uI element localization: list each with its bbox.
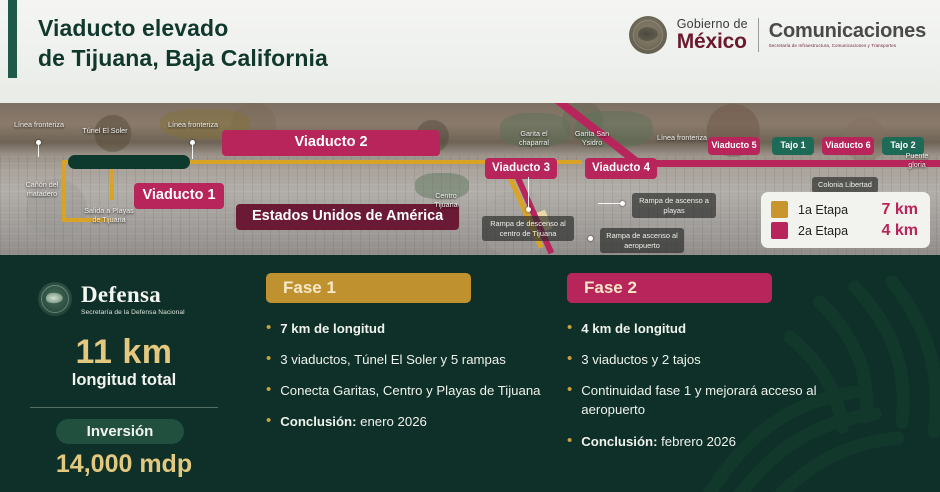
footer: Defensa Secretaría de la Defensa Naciona… bbox=[0, 255, 940, 492]
list-item: • 4 km de longitud bbox=[567, 319, 867, 338]
satellite-map: Estados Unidos de América México Viaduct… bbox=[0, 103, 940, 255]
label-centro-tijuana: Centro Tijuana bbox=[424, 191, 468, 209]
route-tunnel-el-soler bbox=[68, 155, 190, 169]
list-item: • Conclusión: enero 2026 bbox=[266, 412, 556, 431]
leader-line bbox=[38, 143, 39, 157]
label-canon-del-matadero: Cañón del matadero bbox=[14, 180, 70, 198]
legend-row: 1a Etapa 7 km bbox=[771, 199, 918, 220]
header-accent-bar bbox=[8, 0, 17, 78]
chip-viaducto-2: Viaducto 2 bbox=[222, 130, 440, 156]
bullet-icon: • bbox=[266, 381, 271, 400]
label-linea-fronteriza-left: Línea fronteriza bbox=[12, 120, 66, 129]
bullet-text: 7 km de longitud bbox=[280, 319, 556, 338]
bullet-icon: • bbox=[266, 350, 271, 369]
defensa-divider bbox=[30, 407, 218, 408]
leader-line bbox=[598, 203, 622, 204]
legend-label-etapa2: 2a Etapa bbox=[798, 224, 860, 238]
investment-value: 14,000 mdp bbox=[0, 450, 248, 479]
phase-1-bullets: • 7 km de longitud • 3 viaductos, Túnel … bbox=[266, 319, 556, 432]
bullet-text: Conclusión: febrero 2026 bbox=[581, 432, 867, 451]
bullet-icon: • bbox=[266, 412, 271, 431]
leader-line bbox=[192, 143, 193, 159]
bullet-text: Conclusión: enero 2026 bbox=[280, 412, 556, 431]
chip-viaducto-5: Viaducto 5 bbox=[708, 137, 760, 155]
bullet-icon: • bbox=[266, 319, 271, 338]
gobierno-wordmark: Gobierno de México bbox=[677, 18, 748, 53]
leader-line bbox=[528, 177, 529, 207]
route-crimson-main bbox=[640, 160, 940, 167]
infographic-page: Viaducto elevado de Tijuana, Baja Califo… bbox=[0, 0, 940, 492]
bullet-text: 3 viaductos, Túnel El Soler y 5 rampas bbox=[280, 350, 556, 369]
header: Viaducto elevado de Tijuana, Baja Califo… bbox=[0, 0, 940, 103]
list-item: • 3 viaductos y 2 tajos bbox=[567, 350, 867, 369]
label-garita-san-ysidro: Garita San Ysidro bbox=[566, 129, 618, 147]
department-label: Comunicaciones bbox=[769, 21, 926, 41]
legend-swatch-etapa2 bbox=[771, 222, 788, 239]
defensa-name: Defensa bbox=[81, 283, 185, 306]
bullet-text: 4 km de longitud bbox=[581, 319, 867, 338]
phase-1-column: Fase 1 • 7 km de longitud • 3 viaductos,… bbox=[266, 273, 556, 444]
label-tunel-el-soler: Túnel El Soler bbox=[80, 126, 130, 135]
label-linea-fronteriza-mid: Línea fronteriza bbox=[166, 120, 220, 129]
legend-value-etapa2: 4 km bbox=[870, 222, 918, 240]
national-seal-icon bbox=[629, 16, 667, 54]
investment-badge: Inversión bbox=[56, 419, 184, 444]
page-title-line2: de Tijuana, Baja California bbox=[38, 44, 328, 74]
phase-2-bullets: • 4 km de longitud • 3 viaductos y 2 taj… bbox=[567, 319, 867, 451]
phase-2-column: Fase 2 • 4 km de longitud • 3 viaductos … bbox=[567, 273, 867, 463]
bullet-text: Conecta Garitas, Centro y Playas de Tiju… bbox=[280, 381, 556, 400]
list-item: • Continuidad fase 1 y mejorará acceso a… bbox=[567, 381, 867, 419]
chip-viaducto-6: Viaducto 6 bbox=[822, 137, 874, 155]
map-legend: 1a Etapa 7 km 2a Etapa 4 km bbox=[761, 192, 930, 248]
phase-1-header: Fase 1 bbox=[266, 273, 471, 303]
label-linea-fronteriza-right: Línea fronteriza bbox=[655, 133, 709, 142]
label-rampa-ascenso-playas: Rampa de ascenso a playas bbox=[632, 193, 716, 218]
bullet-label: Conclusión: bbox=[581, 434, 657, 449]
bullet-value: febrero 2026 bbox=[657, 434, 735, 449]
defensa-subtitle: Secretaría de la Defensa Nacional bbox=[81, 309, 185, 316]
bullet-value: enero 2026 bbox=[356, 414, 426, 429]
defensa-logo: Defensa Secretaría de la Defensa Naciona… bbox=[38, 282, 185, 316]
chip-tajo-1: Tajo 1 bbox=[772, 137, 814, 155]
label-garita-chaparral: Garita el chaparral bbox=[508, 129, 560, 147]
legend-label-etapa1: 1a Etapa bbox=[798, 203, 860, 217]
list-item: • Conecta Garitas, Centro y Playas de Ti… bbox=[266, 381, 556, 400]
bullet-icon: • bbox=[567, 381, 572, 419]
page-title: Viaducto elevado de Tijuana, Baja Califo… bbox=[38, 14, 328, 74]
mexico-label: México bbox=[677, 31, 748, 52]
total-length-label: longitud total bbox=[0, 371, 248, 390]
bullet-icon: • bbox=[567, 319, 572, 338]
label-puente-gloria: Puente gloria bbox=[900, 151, 934, 169]
bullet-icon: • bbox=[567, 432, 572, 451]
legend-value-etapa1: 7 km bbox=[870, 201, 918, 219]
defensa-wordmark: Defensa Secretaría de la Defensa Naciona… bbox=[81, 283, 185, 316]
bullet-icon: • bbox=[567, 350, 572, 369]
logo-divider bbox=[758, 18, 759, 52]
chip-viaducto-4: Viaducto 4 bbox=[585, 158, 657, 179]
bullet-label: Conclusión: bbox=[280, 414, 356, 429]
label-colonia-libertad: Colonia Libertad bbox=[812, 177, 878, 193]
list-item: • Conclusión: febrero 2026 bbox=[567, 432, 867, 451]
department-wordmark: Comunicaciones Secretaría de Infraestruc… bbox=[769, 21, 926, 48]
defensa-panel: Defensa Secretaría de la Defensa Naciona… bbox=[0, 255, 248, 492]
label-rampa-ascenso-aeropuerto: Rampa de ascenso al aeropuerto bbox=[600, 228, 684, 253]
phase-2-header: Fase 2 bbox=[567, 273, 772, 303]
total-length-value: 11 km bbox=[0, 333, 248, 372]
gobierno-logo: Gobierno de México Comunicaciones Secret… bbox=[629, 14, 926, 56]
page-title-line1: Viaducto elevado bbox=[38, 14, 328, 44]
chip-viaducto-3: Viaducto 3 bbox=[485, 158, 557, 179]
marker-dot bbox=[526, 207, 531, 212]
legend-swatch-etapa1 bbox=[771, 201, 788, 218]
bullet-text: Continuidad fase 1 y mejorará acceso al … bbox=[581, 381, 867, 419]
defensa-seal-icon bbox=[38, 282, 72, 316]
list-item: • 3 viaductos, Túnel El Soler y 5 rampas bbox=[266, 350, 556, 369]
list-item: • 7 km de longitud bbox=[266, 319, 556, 338]
marker-dot bbox=[588, 236, 593, 241]
bullet-text: 3 viaductos y 2 tajos bbox=[581, 350, 867, 369]
gobierno-label: Gobierno de bbox=[677, 18, 748, 31]
department-sublabel: Secretaría de Infraestructura, Comunicac… bbox=[769, 44, 926, 48]
label-salida-playas: Salida a Playas de Tijuana bbox=[84, 206, 134, 224]
label-rampa-descenso-centro: Rampa de descenso al centro de Tijuana bbox=[482, 216, 574, 241]
chip-viaducto-1: Viaducto 1 bbox=[134, 183, 224, 209]
legend-row: 2a Etapa 4 km bbox=[771, 220, 918, 241]
